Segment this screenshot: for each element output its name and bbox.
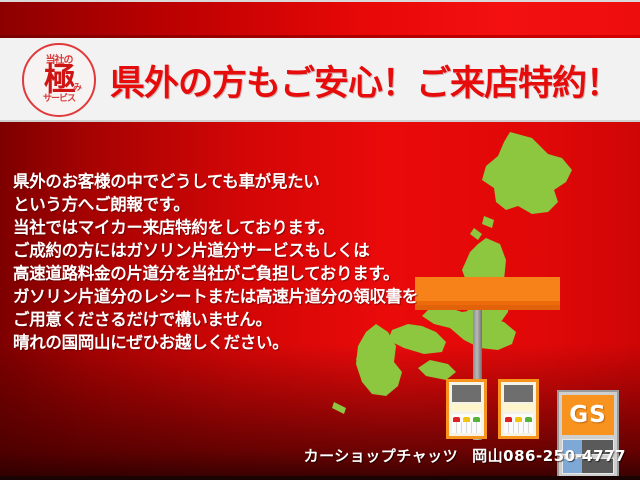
company-seal-stamp: 当社の 極 み サービス xyxy=(22,43,96,117)
main-panel: 県外のお客様の中でどうしても車が見たい という方へご朗報です。 当社ではマイカー… xyxy=(0,122,640,480)
body-line-8: 晴れの国岡山にぜひお越しください。 xyxy=(13,331,418,354)
pump-hose xyxy=(452,422,481,433)
body-line-1: 県外のお客様の中でどうしても車が見たい xyxy=(13,170,418,193)
fuel-pump-icon xyxy=(498,379,539,439)
seal-mi-character: み xyxy=(73,84,82,93)
top-decorative-band xyxy=(0,0,640,38)
seal-main-character: 極 xyxy=(44,65,74,94)
shop-name: カーショップチャッツ xyxy=(304,447,459,465)
pump-display xyxy=(452,385,481,402)
body-line-5: 高速道路料金の片道分を当社がご負担しております。 xyxy=(13,262,418,285)
body-line-7: ご用意くださるだけで構いません。 xyxy=(13,308,418,331)
station-canopy xyxy=(415,277,560,305)
phone-number: 岡山086-250-4777 xyxy=(472,447,626,465)
pump-band xyxy=(452,404,481,411)
headline-band: 当社の 極 み サービス 県外の方もご安心！ご来店特約！ xyxy=(0,38,640,122)
body-line-4: ご成約の方にはガソリン片道分サービスもしくは xyxy=(13,239,418,262)
advertisement-banner: 当社の 極 み サービス 県外の方もご安心！ご来店特約！ xyxy=(0,0,640,480)
pump-hose xyxy=(504,422,533,433)
headline-text: 県外の方もご安心！ご来店特約！ xyxy=(110,55,620,106)
body-line-3: 当社ではマイカー来店特約をしております。 xyxy=(13,216,418,239)
bottom-edge xyxy=(0,476,640,480)
seal-bottom-text: サービス xyxy=(43,95,75,104)
gs-sign-label: GS xyxy=(562,395,614,435)
pump-display xyxy=(504,385,533,402)
station-canopy-lip xyxy=(415,305,560,310)
pump-band xyxy=(504,404,533,411)
footer-contact: カーショップチャッツ岡山086-250-4777 xyxy=(304,445,626,466)
body-copy: 県外のお客様の中でどうしても車が見たい という方へご朗報です。 当社ではマイカー… xyxy=(13,170,418,354)
body-line-6: ガソリン片道分のレシートまたは高速片道分の領収書を xyxy=(13,285,418,308)
fuel-pump-icon xyxy=(446,379,487,439)
body-line-2: という方へご朗報です。 xyxy=(13,193,418,216)
gs-price-sign: GS xyxy=(557,390,619,480)
